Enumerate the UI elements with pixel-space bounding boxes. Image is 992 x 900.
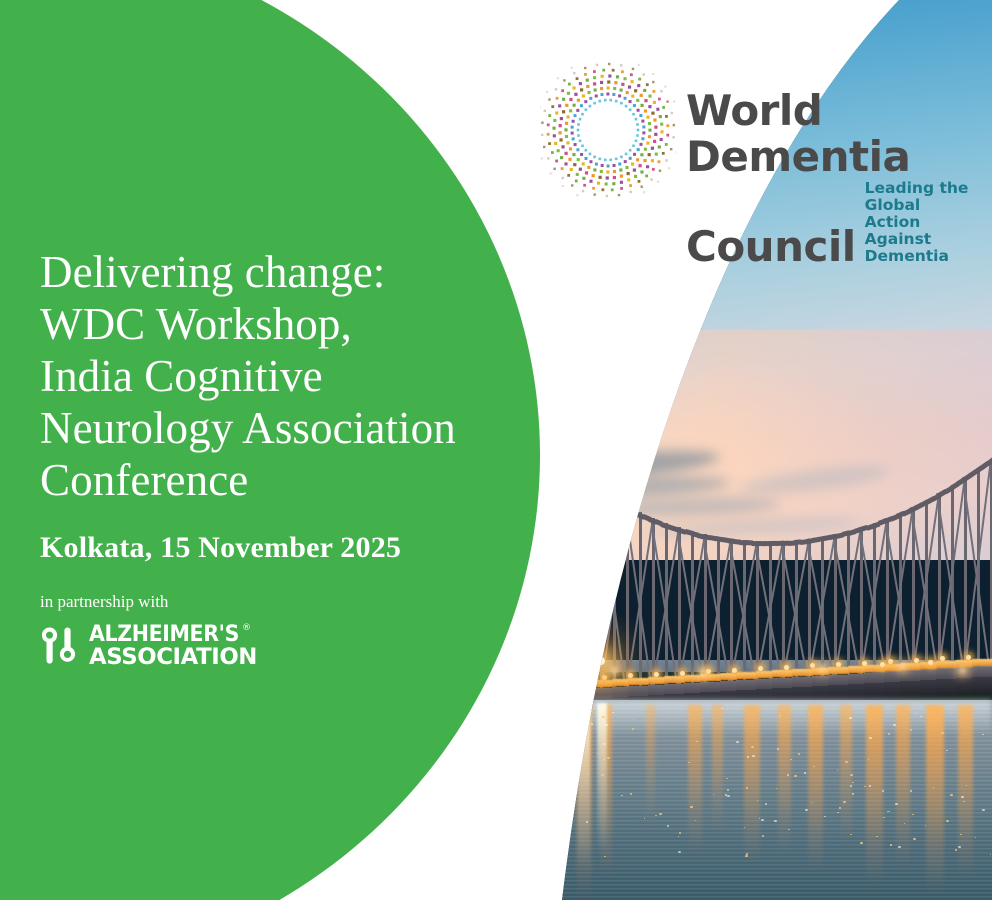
dotted-ring-mandala-icon — [540, 62, 676, 198]
alzheimers-wordmark: ALZHEIMER'S ® ASSOCIATION — [89, 620, 259, 670]
world-dementia-council-logo: World Dementia Council Leading the Globa… — [540, 62, 980, 227]
event-title-line: Neurology Association — [40, 402, 510, 454]
event-title-line: Conference — [40, 454, 510, 506]
two-figures-interlocking-icon — [37, 622, 83, 668]
logo-line-2: Council — [686, 224, 856, 270]
event-title: Delivering change: WDC Workshop, India C… — [40, 246, 510, 506]
partnership-label: in partnership with — [40, 592, 168, 612]
event-dateline: Kolkata, 15 November 2025 — [40, 531, 401, 565]
event-poster: World Dementia Council Leading the Globa… — [0, 0, 992, 900]
logo-tagline-line-1: Leading the Global Action — [865, 180, 980, 231]
logo-wordmark: World Dementia Council Leading the Globa… — [686, 88, 980, 270]
event-title-line: India Cognitive — [40, 350, 510, 402]
svg-text:ALZHEIMER'S: ALZHEIMER'S — [89, 622, 239, 647]
svg-text:®: ® — [242, 623, 251, 633]
event-title-line: WDC Workshop, — [40, 298, 510, 350]
logo-tagline-line-2: Against Dementia — [865, 231, 980, 265]
alzheimers-association-logo: ALZHEIMER'S ® ASSOCIATION — [37, 620, 252, 670]
svg-text:ASSOCIATION: ASSOCIATION — [89, 645, 257, 670]
logo-line-1: World Dementia — [686, 88, 980, 180]
logo-tagline: Leading the Global Action Against Dement… — [865, 180, 980, 270]
event-title-line: Delivering change: — [40, 246, 510, 298]
